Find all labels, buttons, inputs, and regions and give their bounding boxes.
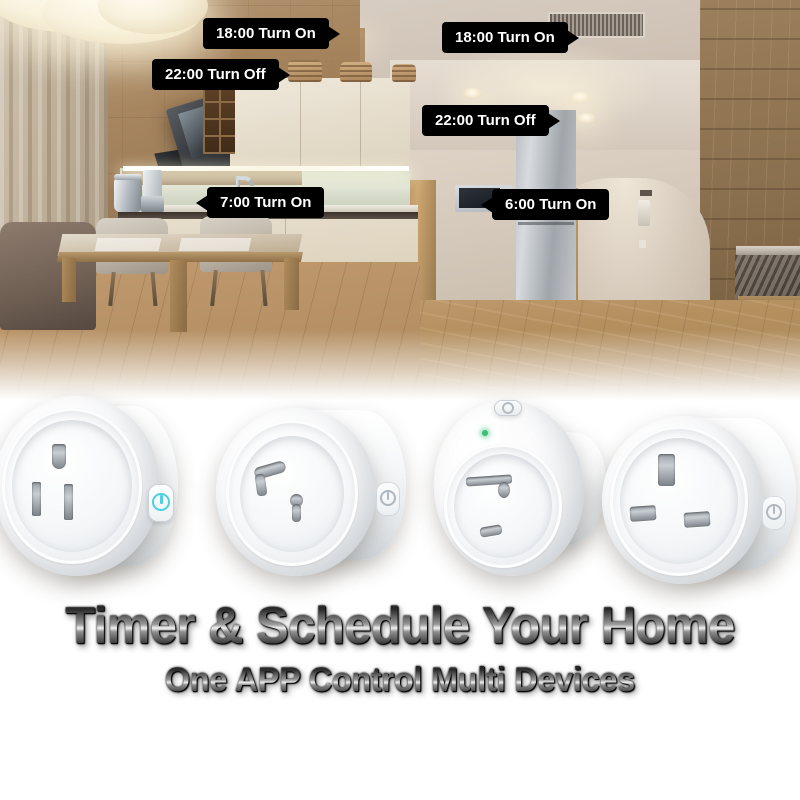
power-icon-stem — [387, 492, 389, 500]
schedule-label-6-00-turn-on-microwave[interactable]: 6:00 Turn On — [492, 189, 609, 220]
background-room-scene — [0, 0, 800, 400]
refrigerator-door-seam — [518, 222, 574, 225]
bubble-tail-icon — [567, 30, 579, 46]
table-leg — [62, 258, 76, 302]
table-leg — [284, 258, 299, 310]
headline-subtitle: One APP Control Multi Devices — [20, 663, 780, 699]
power-button[interactable] — [494, 400, 522, 416]
plug-socket-recess — [454, 454, 552, 558]
schedule-label-text: 18:00 Turn On — [216, 25, 316, 42]
wall-switch — [640, 190, 652, 196]
socket-earth-slot-uk — [658, 454, 675, 486]
bubble-tail-icon — [328, 26, 340, 42]
wicker-basket — [288, 60, 322, 82]
wine-rack — [203, 86, 235, 154]
electric-kettle — [114, 178, 142, 212]
product-lineup — [0, 380, 800, 610]
bubble-tail-icon — [196, 195, 208, 211]
electric-kettle-lid — [114, 174, 142, 180]
socket-ground-pin-us — [52, 444, 66, 469]
table-placemat — [95, 238, 162, 251]
schedule-label-18-00-turn-on-lamps[interactable]: 18:00 Turn On — [203, 18, 329, 49]
kitchen-upper-cabinets — [230, 78, 410, 166]
wicker-basket — [340, 62, 372, 82]
cabinet-seam — [360, 78, 361, 166]
product-plug-fr[interactable] — [430, 398, 620, 588]
schedule-label-text: 6:00 Turn On — [505, 196, 596, 213]
power-icon-stem — [773, 506, 775, 514]
status-led-indicator — [482, 430, 488, 436]
headline-title: Timer & Schedule Your Home — [24, 600, 776, 653]
bubble-tail-icon — [548, 113, 560, 129]
power-button[interactable] — [376, 482, 400, 516]
wall-outlet — [639, 240, 646, 248]
plug-socket-recess — [620, 438, 738, 564]
schedule-label-text: 18:00 Turn On — [455, 29, 555, 46]
intercom-panel — [638, 200, 650, 226]
socket-blade-slot-us — [64, 484, 73, 520]
schedule-label-22-00-turn-off-ceiling[interactable]: 22:00 Turn Off — [422, 105, 549, 136]
socket-pin-hole-fr — [498, 482, 510, 498]
wicker-basket — [392, 64, 416, 82]
schedule-label-22-00-turn-off-lamps[interactable]: 22:00 Turn Off — [152, 59, 279, 90]
product-plug-us[interactable] — [0, 394, 202, 584]
schedule-label-text: 7:00 Turn On — [220, 194, 311, 211]
table-placemat — [179, 238, 252, 251]
marketing-copy-block: Timer & Schedule Your Home One APP Contr… — [0, 600, 800, 699]
bubble-tail-icon — [481, 197, 493, 213]
blender-jar — [143, 170, 162, 197]
socket-pin-hole-eu — [292, 504, 301, 522]
product-plug-eu[interactable] — [212, 402, 422, 582]
power-icon — [502, 402, 514, 414]
fireplace-mantel — [736, 246, 800, 255]
schedule-label-text: 22:00 Turn Off — [435, 112, 536, 129]
under-cabinet-led-strip — [123, 166, 409, 171]
product-poster: 18:00 Turn On 22:00 Turn Off 18:00 Turn … — [0, 0, 800, 800]
table-leg — [170, 260, 187, 332]
schedule-label-7-00-turn-on-kettle[interactable]: 7:00 Turn On — [207, 187, 324, 218]
socket-neutral-slot-uk — [684, 511, 711, 528]
schedule-label-18-00-turn-on-vent[interactable]: 18:00 Turn On — [442, 22, 568, 53]
plug-socket-recess — [240, 436, 344, 552]
socket-blade-slot-us — [32, 482, 41, 516]
power-icon-stem — [160, 495, 163, 504]
power-button[interactable] — [762, 496, 786, 530]
cabinet-seam — [300, 78, 301, 166]
bubble-tail-icon — [278, 67, 290, 83]
product-plug-uk[interactable] — [598, 412, 800, 592]
schedule-label-text: 22:00 Turn Off — [165, 66, 266, 83]
socket-live-slot-uk — [630, 505, 657, 522]
blender-base — [141, 196, 164, 212]
power-button[interactable] — [148, 484, 174, 522]
